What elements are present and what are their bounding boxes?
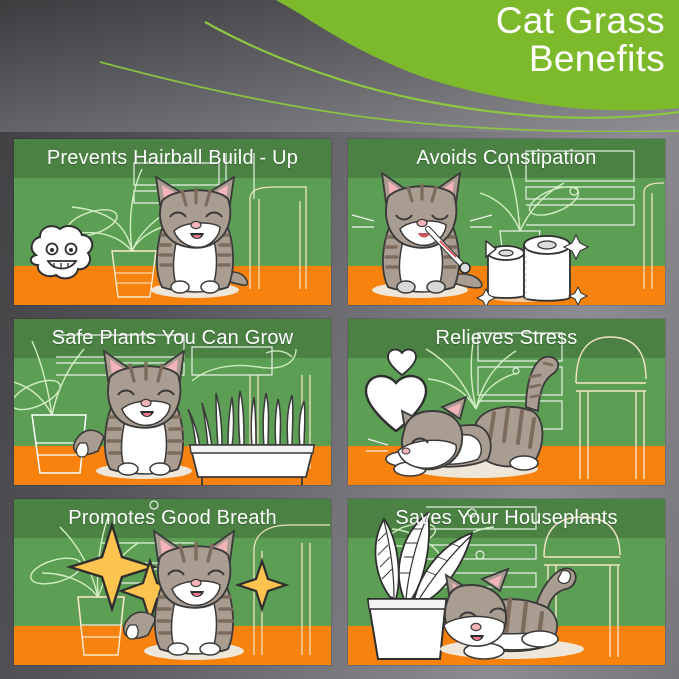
- panel-breath[interactable]: Promotes Good Breath: [14, 499, 331, 665]
- cat-muzzle: [444, 616, 504, 646]
- panel-hairball[interactable]: Prevents Hairball Build - Up: [14, 139, 331, 305]
- hairball-icon: [31, 226, 92, 278]
- title-line-1: Cat Grass: [496, 2, 665, 40]
- cat-paw-rear: [522, 631, 558, 647]
- cat-nose: [191, 221, 201, 228]
- page-title: Cat Grass Benefits: [496, 2, 665, 77]
- sparkle-tiny-right: [569, 287, 587, 305]
- toilet-paper-rolls: [486, 236, 570, 302]
- panel-caption: Safe Plants You Can Grow: [14, 319, 331, 358]
- cat-nose: [471, 623, 481, 630]
- panel-safe-plants[interactable]: Safe Plants You Can Grow: [14, 319, 331, 485]
- cat-nose: [141, 399, 151, 406]
- panel-caption: Avoids Constipation: [348, 139, 665, 178]
- cat-whiskers: [366, 439, 388, 451]
- cat-nose: [402, 448, 410, 454]
- infographic-canvas: Cat Grass Benefits: [0, 0, 679, 679]
- cat-nose: [191, 579, 201, 586]
- cat-paw-rear: [510, 456, 538, 470]
- panel-caption: Relieves Stress: [348, 319, 665, 358]
- cat-nose: [417, 219, 427, 226]
- panel-houseplants[interactable]: Saves Your Houseplants: [348, 499, 665, 665]
- sparkle-small: [238, 561, 286, 609]
- panel-stress[interactable]: Relieves Stress: [348, 319, 665, 485]
- grass-tray: [188, 391, 314, 485]
- panel-caption: Prevents Hairball Build - Up: [14, 139, 331, 178]
- panel-caption: Promotes Good Breath: [14, 499, 331, 538]
- panel-caption: Saves Your Houseplants: [348, 499, 665, 538]
- panel-grid: Prevents Hairball Build - Up: [0, 0, 679, 679]
- panel-constipation[interactable]: Avoids Constipation: [348, 139, 665, 305]
- title-line-2: Benefits: [496, 40, 665, 78]
